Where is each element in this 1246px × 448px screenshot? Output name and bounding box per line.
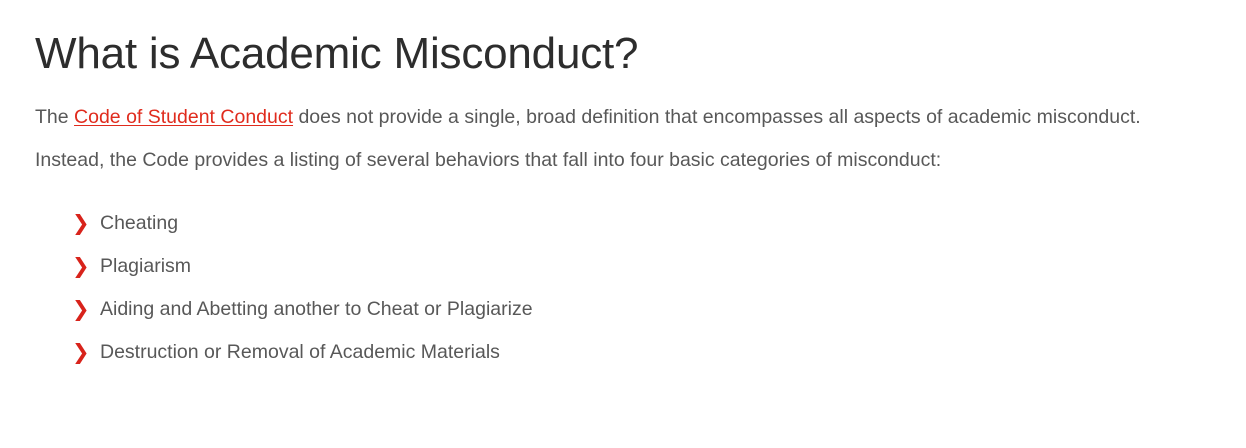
chevron-right-icon: ❯ [72, 245, 86, 288]
list-item[interactable]: ❯ Cheating [35, 202, 1246, 245]
category-label: Cheating [100, 212, 178, 234]
list-item[interactable]: ❯ Destruction or Removal of Academic Mat… [35, 331, 1246, 374]
list-item[interactable]: ❯ Plagiarism [35, 245, 1246, 288]
chevron-right-icon: ❯ [72, 288, 86, 331]
chevron-right-icon: ❯ [72, 331, 86, 374]
category-label: Destruction or Removal of Academic Mater… [100, 341, 500, 363]
code-of-student-conduct-link[interactable]: Code of Student Conduct [74, 106, 293, 128]
page-title: What is Academic Misconduct? [35, 0, 1246, 80]
intro-paragraph: The Code of Student Conduct does not pro… [35, 80, 1155, 182]
chevron-right-icon: ❯ [72, 202, 86, 245]
category-label: Aiding and Abetting another to Cheat or … [100, 298, 533, 320]
misconduct-category-list: ❯ Cheating ❯ Plagiarism ❯ Aiding and Abe… [35, 182, 1246, 374]
article-content-area: What is Academic Misconduct? The Code of… [0, 0, 1246, 448]
intro-text-before-link: The [35, 106, 74, 128]
list-item[interactable]: ❯ Aiding and Abetting another to Cheat o… [35, 288, 1246, 331]
category-label: Plagiarism [100, 255, 191, 277]
